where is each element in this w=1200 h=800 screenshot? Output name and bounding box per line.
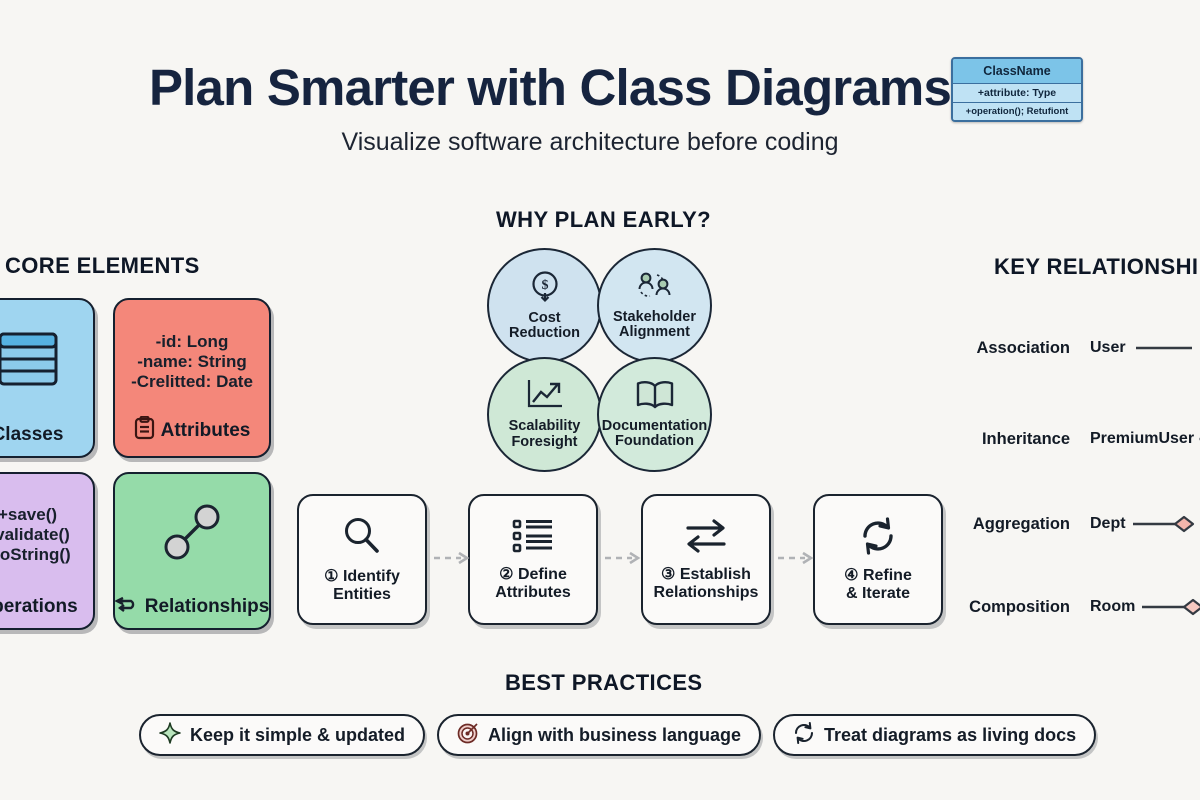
step-connector-arrow-2	[604, 551, 644, 565]
table-grid-icon	[0, 328, 59, 390]
benefit-circle-stakeholder-alignment[interactable]: Stakeholder Alignment	[597, 248, 712, 363]
process-step-establish-relationships[interactable]: ③ Establish Relationships	[641, 494, 771, 625]
process-step-identify-entities[interactable]: ① Identify Entities	[297, 494, 427, 625]
core-card-operations[interactable]: +save() +validate() +toString() Operatio…	[0, 472, 95, 630]
page-title: Plan Smarter with Class Diagrams	[0, 58, 1100, 117]
core-card-attributes[interactable]: -id: Long -name: String -Crelitted: Date…	[113, 298, 271, 458]
benefit-circle-documentation-foundation[interactable]: Documentation Foundation	[597, 357, 712, 472]
relationship-row-aggregation-name: Aggregation	[966, 515, 1070, 534]
best-practice-pill-simple-updated-label: Keep it simple & updated	[190, 725, 405, 746]
section-heading-why-plan-early: WHY PLAN EARLY?	[496, 207, 711, 233]
core-card-operations-lines: +save() +validate() +toString()	[0, 474, 93, 596]
uml-badge-class-name: ClassName	[953, 59, 1081, 84]
relationship-row-association-from: User	[1090, 339, 1126, 357]
target-icon	[457, 722, 479, 749]
relationship-row-composition-from: Room	[1090, 598, 1135, 616]
uml-class-badge: ClassName +attribute: Type +operation();…	[951, 57, 1083, 122]
refresh-cycle-icon	[858, 516, 898, 561]
section-heading-key-relationships: KEY RELATIONSHI	[994, 254, 1198, 280]
benefit-circle-cost-reduction-label: Cost Reduction	[503, 311, 586, 343]
benefit-circle-documentation-foundation-label: Documentation Foundation	[596, 419, 714, 451]
uml-badge-attribute: +attribute: Type	[953, 84, 1081, 103]
benefit-circle-stakeholder-alignment-label: Stakeholder Alignment	[607, 310, 702, 342]
best-practice-pill-living-docs-label: Treat diagrams as living docs	[824, 725, 1076, 746]
benefit-circle-scalability-foresight-label: Scalability Foresight	[503, 419, 587, 451]
process-step-establish-relationships-label: ③ Establish Relationships	[654, 566, 759, 602]
process-step-identify-entities-label: ① Identify Entities	[324, 568, 400, 604]
hollow-diamond-connector-icon	[1131, 513, 1200, 535]
open-book-icon	[634, 379, 676, 416]
relationship-row-association: Association User O	[966, 335, 1200, 361]
relationship-row-inheritance-from: PremiumUser	[1090, 430, 1194, 448]
sparkle-icon	[159, 722, 181, 749]
core-card-relationships-icon	[157, 502, 227, 567]
process-step-define-attributes-label: ② Define Attributes	[495, 566, 571, 602]
page-subtitle: Visualize software architecture before c…	[0, 128, 1180, 157]
relationship-row-association-name: Association	[966, 339, 1070, 358]
step-connector-arrow-3	[777, 551, 817, 565]
best-practice-pill-living-docs[interactable]: Treat diagrams as living docs	[773, 714, 1096, 756]
process-step-refine-iterate-label: ④ Refine & Iterate	[844, 567, 912, 603]
infographic-canvas: Plan Smarter with Class Diagrams Visuali…	[0, 0, 1200, 800]
svg-text:$: $	[541, 278, 548, 293]
core-card-attributes-label: Attributes	[161, 420, 251, 442]
clipboard-icon	[134, 416, 155, 446]
step-connector-arrow-1	[433, 551, 473, 565]
relationship-row-composition: Composition Room H	[966, 594, 1200, 620]
core-card-classes-label: Classes	[0, 424, 63, 446]
core-card-classes-icon	[0, 328, 59, 395]
dollar-down-icon: $	[528, 269, 562, 308]
people-network-icon	[635, 270, 675, 307]
exchange-arrows-icon	[684, 517, 728, 560]
relationship-row-inheritance-name: Inheritance	[966, 430, 1070, 449]
section-heading-best-practices: BEST PRACTICES	[505, 670, 703, 696]
relationship-row-composition-name: Composition	[966, 598, 1070, 617]
core-card-classes[interactable]: Classes	[0, 298, 95, 458]
core-card-attributes-lines: -id: Long -name: String -Crelitted: Date	[115, 300, 269, 416]
refresh-icon	[793, 722, 815, 749]
core-card-relationships[interactable]: Relationships	[113, 472, 271, 630]
best-practice-pill-business-language[interactable]: Align with business language	[437, 714, 761, 756]
relationship-arrow-icon	[115, 596, 139, 618]
list-icon	[512, 517, 554, 560]
core-card-operations-label: Operations	[0, 596, 78, 618]
section-heading-core-elements: CORE ELEMENTS	[5, 253, 200, 279]
magnifier-icon	[341, 515, 383, 562]
relationship-row-aggregation-from: Dept	[1090, 515, 1126, 533]
process-step-refine-iterate[interactable]: ④ Refine & Iterate	[813, 494, 943, 625]
uml-badge-operation: +operation(); Retufiont	[953, 103, 1081, 120]
core-card-relationships-label: Relationships	[145, 596, 270, 618]
filled-diamond-connector-icon	[1140, 596, 1200, 618]
relationship-row-aggregation: Aggregation Dept E	[966, 511, 1200, 537]
best-practice-pill-business-language-label: Align with business language	[488, 725, 741, 746]
link-nodes-icon	[157, 502, 227, 562]
benefit-circle-cost-reduction[interactable]: $ Cost Reduction	[487, 248, 602, 363]
best-practice-pill-simple-updated[interactable]: Keep it simple & updated	[139, 714, 425, 756]
process-step-define-attributes[interactable]: ② Define Attributes	[468, 494, 598, 625]
benefit-circle-scalability-foresight[interactable]: Scalability Foresight	[487, 357, 602, 472]
growth-chart-icon	[525, 378, 565, 416]
relationship-row-inheritance: Inheritance PremiumUser	[966, 426, 1200, 452]
plain-line-connector-icon	[1132, 338, 1200, 358]
